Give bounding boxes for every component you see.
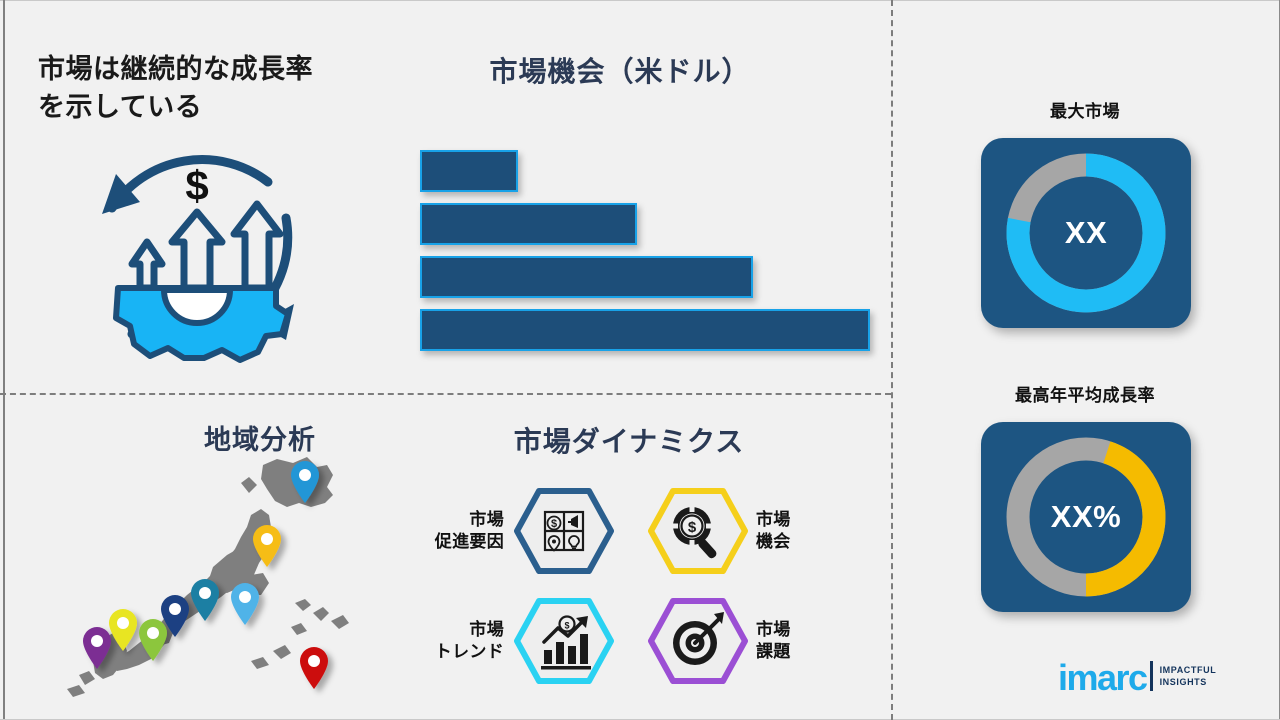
- dynamics-item-drivers[interactable]: 市場 促進要因 $: [408, 490, 618, 572]
- kpi-card-largest-market: XX: [981, 138, 1191, 328]
- kpi-card-highest-cagr: XX%: [981, 422, 1191, 612]
- opportunity-bar-chart: [0, 0, 891, 393]
- kpi-value-highest-cagr: XX%: [981, 422, 1191, 612]
- dynamics-item-drivers-label: 市場 促進要因: [408, 509, 504, 554]
- dynamics-item-trends[interactable]: 市場 トレンド $: [408, 600, 618, 682]
- region-panel-title: 地域分析: [100, 418, 420, 457]
- bar-item-3: [420, 256, 753, 298]
- magnifier-dollar-icon: $: [648, 488, 744, 574]
- kpi-value-largest-market: XX: [981, 138, 1191, 328]
- dynamics-item-trends-label: 市場 トレンド: [408, 619, 504, 664]
- slide-canvas: 市場は継続的な成長率 を示している $: [0, 0, 1280, 720]
- dynamics-item-challenges-label: 市場 課題: [756, 619, 852, 664]
- bar-item-1: [420, 150, 518, 192]
- target-dart-icon: [648, 598, 744, 684]
- vertical-dashed-divider: [891, 0, 893, 720]
- logo-divider: [1150, 661, 1153, 691]
- pin-okinawa: [300, 647, 328, 689]
- svg-text:$: $: [564, 621, 569, 631]
- pin-kanto: [231, 583, 259, 625]
- bar-item-4: [420, 309, 870, 351]
- kpi-label-highest-cagr: 最高年平均成長率: [955, 381, 1215, 406]
- pin-chubu: [191, 579, 219, 621]
- puzzle-pieces-icon: $: [514, 488, 610, 574]
- dynamics-item-opportunities[interactable]: $ 市場 機会: [648, 490, 858, 572]
- imarc-logo: imarc IMPACTFUL INSIGHTS: [1058, 658, 1216, 694]
- logo-tagline: IMPACTFUL INSIGHTS: [1160, 664, 1217, 688]
- logo-wordmark: imarc: [1058, 660, 1147, 696]
- kpi-label-largest-market: 最大市場: [955, 97, 1215, 122]
- dynamics-item-challenges[interactable]: 市場 課題: [648, 600, 858, 682]
- svg-text:$: $: [688, 519, 697, 536]
- dynamics-panel-title: 市場ダイナミクス: [404, 420, 854, 460]
- bar-item-2: [420, 203, 637, 245]
- growth-bar-chart-icon: $: [514, 598, 610, 684]
- japan-map: [55, 455, 395, 705]
- horizontal-dashed-divider: [0, 393, 891, 395]
- dynamics-item-opportunities-label: 市場 機会: [756, 509, 852, 554]
